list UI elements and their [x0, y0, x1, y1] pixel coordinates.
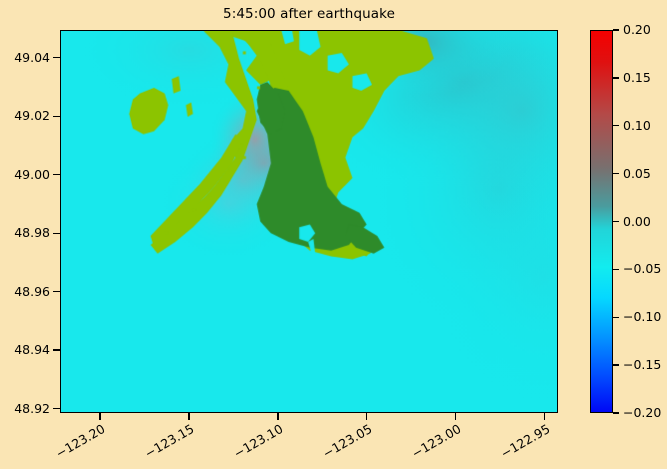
colorbar-tick-label: −0.10	[623, 309, 661, 324]
x-tick-mark	[366, 413, 367, 420]
x-tick-label: −123.10	[228, 421, 286, 463]
colorbar[interactable]	[590, 30, 613, 413]
colorbar-tick-label: 0.15	[623, 70, 651, 85]
x-tick-label: −123.00	[405, 421, 463, 463]
wave-height-heatmap	[61, 31, 557, 412]
y-tick-mark	[53, 57, 60, 58]
y-tick-mark	[53, 408, 60, 409]
y-tick-label: 49.02	[0, 108, 50, 123]
x-tick-label: −123.05	[317, 421, 375, 463]
colorbar-tick-mark	[613, 221, 619, 222]
colorbar-tick-label: −0.20	[623, 405, 661, 420]
y-tick-mark	[53, 116, 60, 117]
y-tick-label: 48.98	[0, 225, 50, 240]
y-tick-label: 49.04	[0, 50, 50, 65]
colorbar-tick-mark	[613, 269, 619, 270]
colorbar-tick-label: −0.05	[623, 261, 661, 276]
x-tick-label: −123.15	[139, 421, 197, 463]
colorbar-tick-mark	[613, 412, 619, 413]
x-tick-mark	[277, 413, 278, 420]
x-tick-mark	[99, 413, 100, 420]
map-axes[interactable]	[60, 30, 558, 413]
y-tick-label: 49.00	[0, 167, 50, 182]
y-tick-mark	[53, 174, 60, 175]
y-tick-mark	[53, 233, 60, 234]
colorbar-tick-label: 0.10	[623, 118, 651, 133]
colorbar-tick-mark	[613, 77, 619, 78]
colorbar-tick-mark	[613, 125, 619, 126]
x-tick-mark	[455, 413, 456, 420]
colorbar-tick-mark	[613, 317, 619, 318]
x-tick-mark	[188, 413, 189, 420]
colorbar-tick-label: −0.15	[623, 357, 661, 372]
colorbar-tick-mark	[613, 173, 619, 174]
colorbar-tick-label: 0.20	[623, 22, 651, 37]
matplotlib-figure: 5:45:00 after earthquake 48.9248.9448.96…	[0, 0, 667, 469]
colorbar-tick-label: 0.00	[623, 214, 651, 229]
y-tick-mark	[53, 349, 60, 350]
y-tick-label: 48.92	[0, 401, 50, 416]
colorbar-tick-mark	[613, 29, 619, 30]
colorbar-tick-mark	[613, 364, 619, 365]
x-tick-mark	[544, 413, 545, 420]
x-tick-label: −122.95	[494, 421, 552, 463]
y-tick-label: 48.94	[0, 342, 50, 357]
x-tick-label: −123.20	[50, 421, 108, 463]
y-tick-mark	[53, 291, 60, 292]
page-title: 5:45:00 after earthquake	[60, 6, 558, 22]
colorbar-tick-label: 0.05	[623, 166, 651, 181]
y-tick-label: 48.96	[0, 284, 50, 299]
